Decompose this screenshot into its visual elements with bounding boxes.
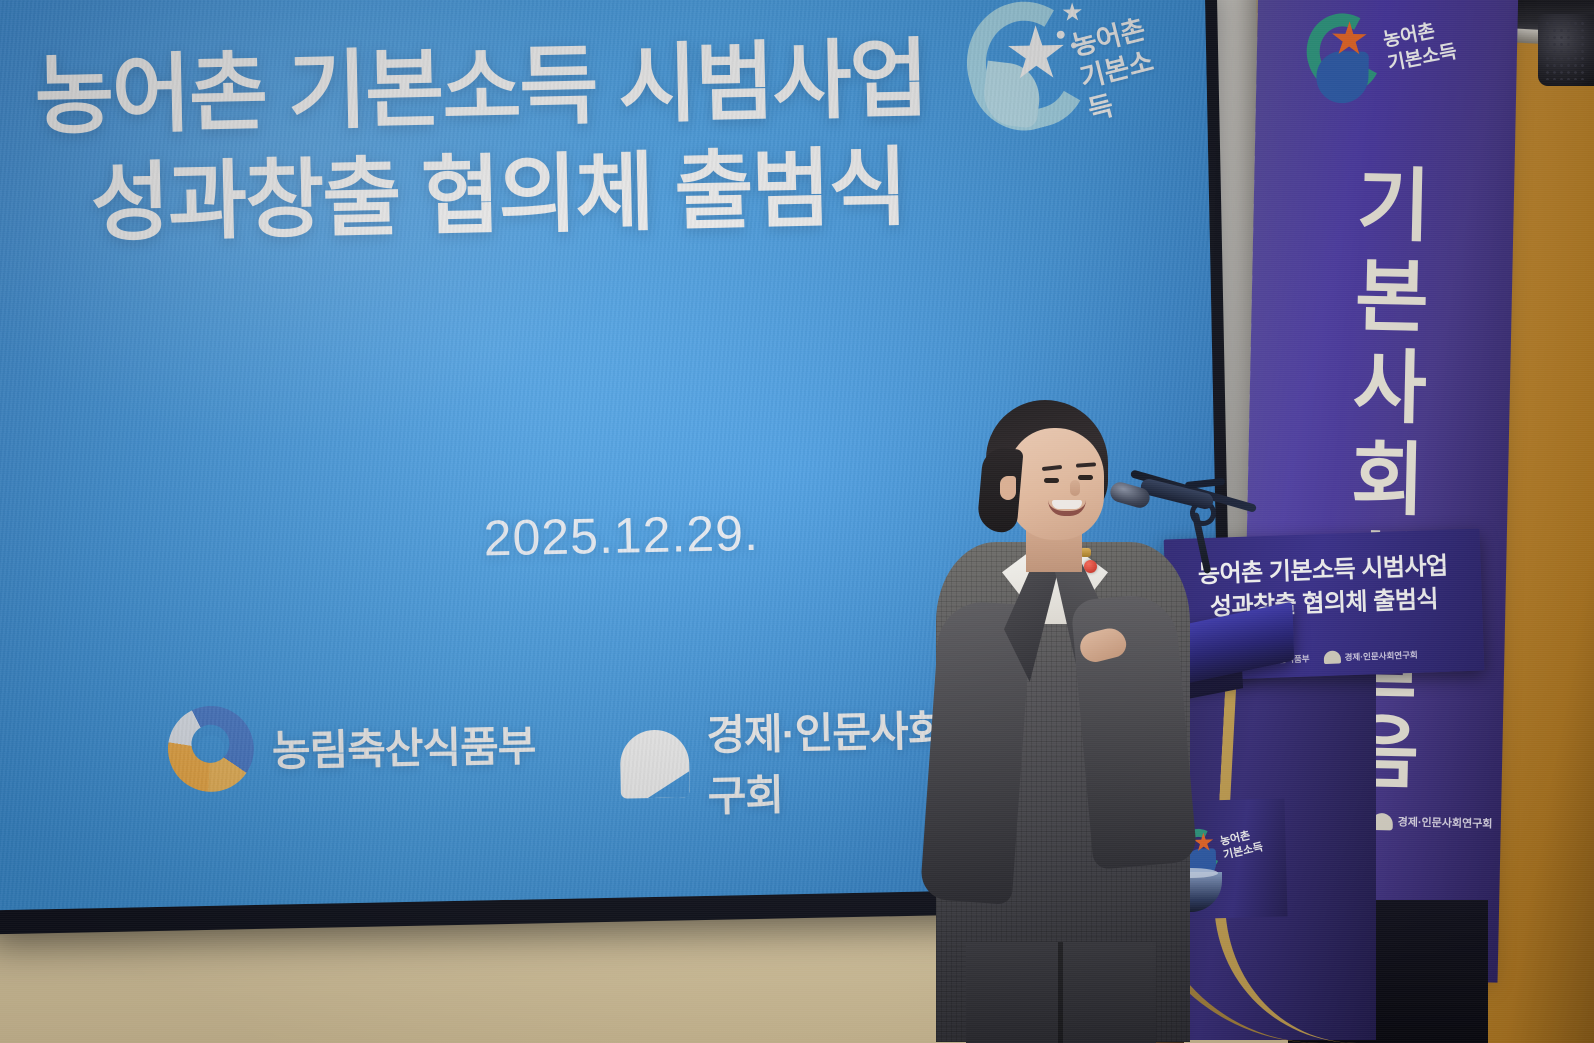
plate-logo-text: 농어촌 기본소득 [1219, 828, 1264, 864]
slide-logo-label: 농림축산식품부 [271, 712, 536, 778]
speaker-trousers [966, 942, 1156, 1043]
banner-char: 사 [1329, 341, 1451, 435]
speaker-eye-right [1078, 475, 1093, 480]
banner-footer-label: 경제·인문사회연구회 [1398, 813, 1493, 831]
banner-logo-drop-icon [1316, 51, 1369, 104]
emblem-text: 농어촌 기본소득 [1069, 11, 1176, 128]
lectern-sign-logo-label: 경제·인문사회연구회 [1344, 648, 1418, 663]
lectern-sign-title: 농어촌 기본소득 시범사업 성과창출 협의체 출범식 [1164, 549, 1482, 626]
speaker-person [930, 392, 1200, 1043]
banner-char: 기 [1333, 159, 1455, 253]
dome-icon [1323, 650, 1340, 664]
slide-title-line2: 성과창출 협의체 출범식 [36, 131, 1088, 260]
ceiling-speaker-icon [1538, 14, 1594, 86]
speaker-ear [1000, 476, 1016, 500]
slide-logo-ministry-agriculture: 농림축산식품부 [167, 699, 536, 792]
banner-logo: 농어촌 기본소득 [1298, 0, 1490, 122]
slide-emblem: 농어촌 기본소득 [958, 0, 1166, 145]
lectern-sign-nrc: 경제·인문사회연구회 [1323, 648, 1418, 664]
slide-date: 2025.12.29. [483, 504, 759, 568]
slide-logo-row: 농림축산식품부 경제·인문사회연구회 [167, 674, 989, 810]
taeguk-swirl-icon [158, 696, 265, 803]
photo-scene: 농어촌 기본소득 시범사업 성과창출 협의체 출범식 2025.12.29. 농… [0, 0, 1594, 1043]
dome-icon [620, 729, 690, 798]
speaker-lapel-pin [1084, 560, 1097, 573]
banner-char: 본 [1331, 250, 1453, 344]
speaker-nose [1070, 480, 1080, 496]
slide-title-line1: 농어촌 기본소득 시범사업 [34, 22, 1086, 151]
speaker-face [1008, 428, 1104, 540]
banner-logo-text: 농어촌 기본소득 [1381, 17, 1459, 77]
speaker-eye-left [1044, 478, 1059, 483]
slide-title: 농어촌 기본소득 시범사업 성과창출 협의체 출범식 [34, 22, 1088, 260]
